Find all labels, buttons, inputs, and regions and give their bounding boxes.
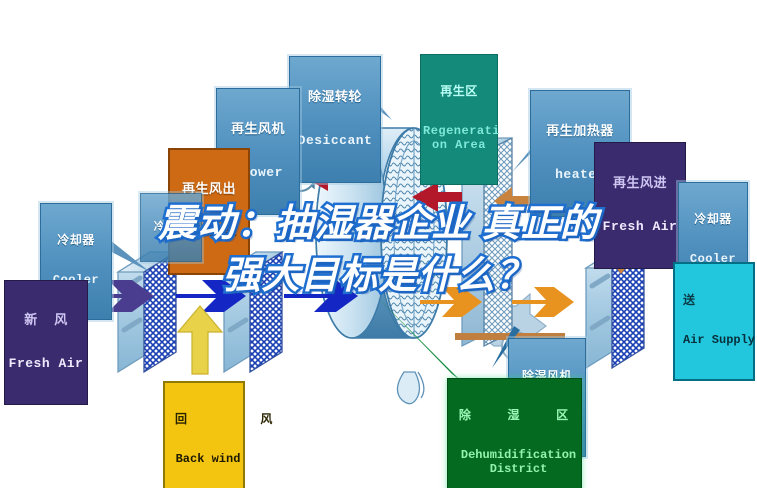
label-desiccant: 除湿转轮 Desiccant xyxy=(289,56,381,183)
label-desiccant-en: Desiccant xyxy=(292,134,378,149)
back-wind-arrow xyxy=(178,306,222,374)
label-back-wind-en: Back wind xyxy=(175,453,241,466)
label-dehum-district-en: Dehumidification District xyxy=(458,449,579,476)
label-air-supply-en: Air Supply xyxy=(683,334,751,347)
label-regen-area-cn: 再生区 xyxy=(423,85,495,98)
label-regeneration-area: 再生区 Regenerati on Area xyxy=(420,54,498,185)
label-regen-fresh-air-cn: 再生风进 xyxy=(597,176,683,191)
label-fresh-air-cn: 新 风 xyxy=(7,313,85,328)
label-desiccant-cn: 除湿转轮 xyxy=(292,90,378,105)
dehumidifier-schematic: 除湿转轮 Desiccant 再生风机 Blower 再生区 Regenerat… xyxy=(0,0,757,488)
page-title-line1: 震动：抽湿器企业 真正的 xyxy=(0,198,757,250)
label-dehum-district-cn: 除 湿 区 xyxy=(458,409,579,422)
label-back-wind: 回 风 Back wind xyxy=(163,381,245,488)
label-regen-blower-cn: 再生风机 xyxy=(219,122,297,137)
label-back-wind-cn: 回 风 xyxy=(175,413,241,426)
label-regen-heater-cn: 再生加热器 xyxy=(533,124,627,139)
page-title: 震动：抽湿器企业 真正的 强大目标是什么？ xyxy=(0,198,757,302)
page-title-line2: 强大目标是什么？ xyxy=(0,250,757,302)
label-regen-area-en: Regenerati on Area xyxy=(423,125,495,152)
label-dehumidification-district: 除 湿 区 Dehumidification District xyxy=(447,378,582,488)
label-fresh-air-en: Fresh Air xyxy=(7,357,85,372)
